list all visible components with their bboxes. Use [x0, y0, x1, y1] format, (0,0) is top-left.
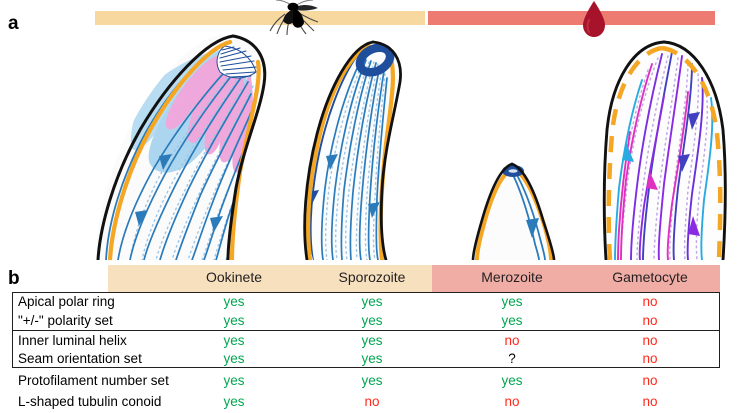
- blood-stage-bar: [428, 11, 715, 25]
- cell-sporozoite: no: [302, 395, 442, 409]
- cell-merozoite: ?: [442, 352, 582, 366]
- cell-gametocyte: no: [580, 314, 720, 328]
- cell-sporozoite: yes: [302, 314, 442, 328]
- cell-diagram-merozoite: [452, 158, 582, 260]
- cell-gametocyte: no: [580, 352, 720, 366]
- row-label: Protofilament number set: [18, 374, 169, 388]
- figure-root: a: [0, 0, 748, 413]
- table-row: L-shaped tubulin conoid yes no no no: [0, 393, 748, 412]
- row-label: Inner luminal helix: [18, 334, 127, 348]
- row-label: "+/-" polarity set: [18, 314, 113, 328]
- mosquito-stage-bar: [95, 11, 425, 25]
- comparison-table: Ookinete Sporozoite Merozoite Gametocyte…: [0, 262, 748, 413]
- cell-ookinete: yes: [164, 314, 304, 328]
- cell-merozoite: no: [442, 395, 582, 409]
- row-label: L-shaped tubulin conoid: [18, 395, 161, 409]
- cell-gametocyte: no: [580, 374, 720, 388]
- cell-merozoite: no: [442, 334, 582, 348]
- cell-ookinete: yes: [164, 395, 304, 409]
- cell-sporozoite: yes: [302, 374, 442, 388]
- cell-ookinete: yes: [164, 334, 304, 348]
- cell-sporozoite: yes: [302, 295, 442, 309]
- cell-diagram-ookinete: [88, 28, 288, 260]
- cell-sporozoite: yes: [302, 352, 442, 366]
- column-header-ookinete: Ookinete: [164, 270, 304, 284]
- row-label: Seam orientation set: [18, 352, 142, 366]
- cell-diagram-row: [0, 28, 748, 260]
- cell-diagram-sporozoite: [285, 28, 445, 260]
- table-row: "+/-" polarity set yes yes yes no: [0, 312, 748, 331]
- table-row: Inner luminal helix yes yes no no: [0, 332, 748, 351]
- cell-diagram-gametocyte: [592, 36, 742, 260]
- column-header-sporozoite: Sporozoite: [302, 270, 442, 284]
- cell-gametocyte: no: [580, 295, 720, 309]
- column-header-gametocyte: Gametocyte: [580, 270, 720, 284]
- table-row: Seam orientation set yes yes ? no: [0, 350, 748, 369]
- cell-ookinete: yes: [164, 374, 304, 388]
- column-header-merozoite: Merozoite: [442, 270, 582, 284]
- cell-ookinete: yes: [164, 352, 304, 366]
- cell-merozoite: yes: [442, 374, 582, 388]
- cell-ookinete: yes: [164, 295, 304, 309]
- cell-merozoite: yes: [442, 314, 582, 328]
- cell-gametocyte: no: [580, 334, 720, 348]
- cell-gametocyte: no: [580, 395, 720, 409]
- cell-sporozoite: yes: [302, 334, 442, 348]
- table-row: Protofilament number set yes yes yes no: [0, 372, 748, 391]
- cell-merozoite: yes: [442, 295, 582, 309]
- row-label: Apical polar ring: [18, 295, 115, 309]
- table-row: Apical polar ring yes yes yes no: [0, 293, 748, 312]
